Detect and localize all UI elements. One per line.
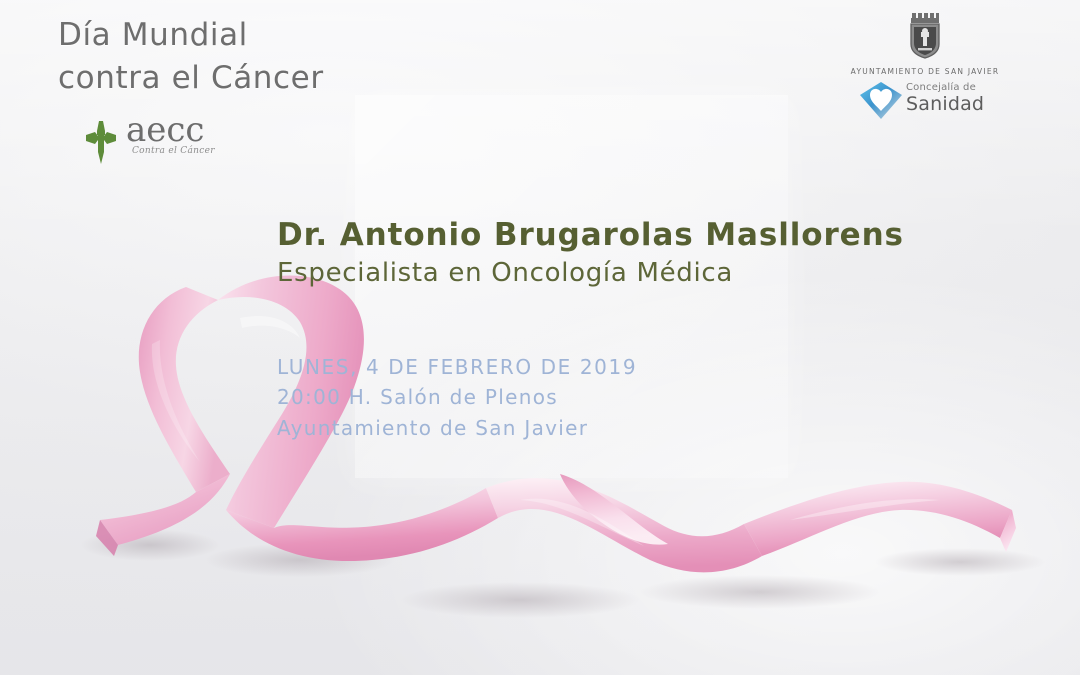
event-details-block: LUNES, 4 DE FEBRERO DE 2019 20:00 H. Sal… xyxy=(277,352,637,443)
aecc-wordmark: aecc xyxy=(126,110,204,150)
town-hall-name: AYUNTAMIENTO DE SAN JAVIER xyxy=(840,67,1010,76)
headline-line-1: Día Mundial xyxy=(58,17,248,53)
poster-canvas: Día Mundial contra el Cáncer aecc Contra… xyxy=(0,0,1080,675)
concejalia-sanidad-heart-icon xyxy=(858,80,904,124)
sanidad-label: Sanidad xyxy=(906,93,984,115)
speaker-block: Dr. Antonio Brugarolas Masllorens Especi… xyxy=(277,218,904,289)
event-time-venue: 20:00 H. Salón de Plenos xyxy=(277,382,637,412)
speaker-role: Especialista en Oncología Médica xyxy=(277,258,904,289)
concejalia-label: Concejalía de xyxy=(906,82,976,93)
aecc-tagline: Contra el Cáncer xyxy=(132,146,215,156)
poster-headline: Día Mundial contra el Cáncer xyxy=(58,14,324,100)
event-date: LUNES, 4 DE FEBRERO DE 2019 xyxy=(277,352,637,382)
aecc-cross-icon xyxy=(84,118,118,170)
aecc-logo: aecc Contra el Cáncer xyxy=(84,116,234,168)
concejalia-sanidad-logo: Concejalía de Sanidad xyxy=(858,80,993,120)
headline-line-2: contra el Cáncer xyxy=(58,57,324,100)
speaker-name: Dr. Antonio Brugarolas Masllorens xyxy=(277,218,904,252)
san-javier-coat-of-arms-icon xyxy=(840,10,1010,64)
event-location: Ayuntamiento de San Javier xyxy=(277,413,637,443)
